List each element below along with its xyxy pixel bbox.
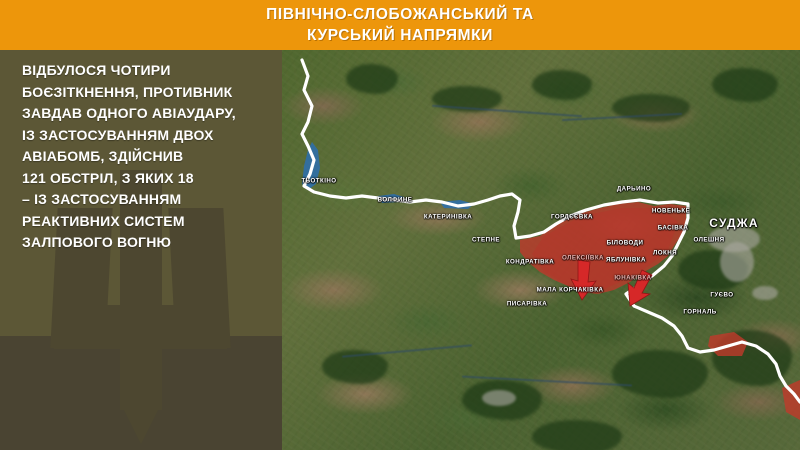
map-label-major-city-sudzha: СУДЖА (709, 216, 758, 230)
sidebar-body-text: ВІДБУЛОСЯ ЧОТИРИ БОЄЗІТКНЕННЯ, ПРОТИВНИК… (0, 50, 282, 254)
sidebar-line: АВІАБОМБ, ЗДІЙСНИВ (22, 146, 268, 168)
map-label-settlement: КАТЕРИНІВКА (424, 214, 472, 221)
map-label-settlement: ЮНАКІВКА (614, 275, 651, 282)
sidebar-line: – ІЗ ЗАСТОСУВАННЯМ (22, 189, 268, 211)
sidebar-line: ІЗ ЗАСТОСУВАННЯМ ДВОХ (22, 125, 268, 147)
map-label-settlement: ЯБЛУНІВКА (606, 257, 646, 264)
map-label-settlement: МАЛА КОРЧАКІВКА (537, 287, 604, 294)
trident-crossbar-icon (54, 305, 227, 349)
map-label-settlement: ТЬОТКІНО (301, 178, 336, 185)
map-label-settlement: ГОРНАЛЬ (683, 309, 716, 316)
map-label-settlement: ГУЄВО (710, 292, 733, 299)
map-label-settlement: ПИСАРІВКА (507, 301, 547, 308)
map-label-settlement: ДАРЬИНО (617, 186, 651, 193)
sidebar-line: ЗАВДАВ ОДНОГО АВІАУДАРУ, (22, 103, 268, 125)
header-title-line-2: КУРСЬКИЙ НАПРЯМКИ (307, 25, 493, 46)
map-label-settlement: КОНДРАТІВКА (506, 259, 554, 266)
map-label-settlement: ВОЛФИНЕ (378, 197, 413, 204)
map-label-settlement: БАСІВКА (658, 225, 689, 232)
map-label-settlement: БІЛОВОДИ (607, 240, 644, 247)
infographic-root: ПІВНІЧНО-СЛОБОЖАНСЬКИЙ ТА КУРСЬКИЙ НАПРЯ… (0, 0, 800, 450)
header-title-line-1: ПІВНІЧНО-СЛОБОЖАНСЬКИЙ ТА (266, 4, 534, 25)
map-label-settlement: ОЛЕКСІЇВКА (562, 255, 604, 262)
tactical-map[interactable]: ТЬОТКІНО ВОЛФИНЕ КАТЕРИНІВКА СТЕПНЕ КОНД… (282, 50, 800, 450)
map-vector-overlay (282, 50, 800, 450)
map-label-settlement: СТЕПНЕ (472, 237, 500, 244)
sidebar-line: ВІДБУЛОСЯ ЧОТИРИ (22, 60, 268, 82)
summary-sidebar: ВІДБУЛОСЯ ЧОТИРИ БОЄЗІТКНЕННЯ, ПРОТИВНИК… (0, 50, 282, 450)
map-label-settlement: ЛОКНЯ (653, 250, 677, 257)
header-banner: ПІВНІЧНО-СЛОБОЖАНСЬКИЙ ТА КУРСЬКИЙ НАПРЯ… (0, 0, 800, 50)
sidebar-line: РЕАКТИВНИХ СИСТЕМ (22, 211, 268, 233)
sidebar-line: БОЄЗІТКНЕННЯ, ПРОТИВНИК (22, 82, 268, 104)
map-label-settlement: НОВЕНЬКЕ (652, 208, 690, 215)
controlled-zone-pocket (708, 332, 748, 356)
map-label-settlement: ОЛЕШНЯ (694, 237, 725, 244)
sidebar-line: ЗАЛПОВОГО ВОГНЮ (22, 232, 268, 254)
sidebar-line: 121 ОБСТРІЛ, З ЯКИХ 18 (22, 168, 268, 190)
map-label-settlement: ГОРДЄЄВКА (551, 214, 593, 221)
